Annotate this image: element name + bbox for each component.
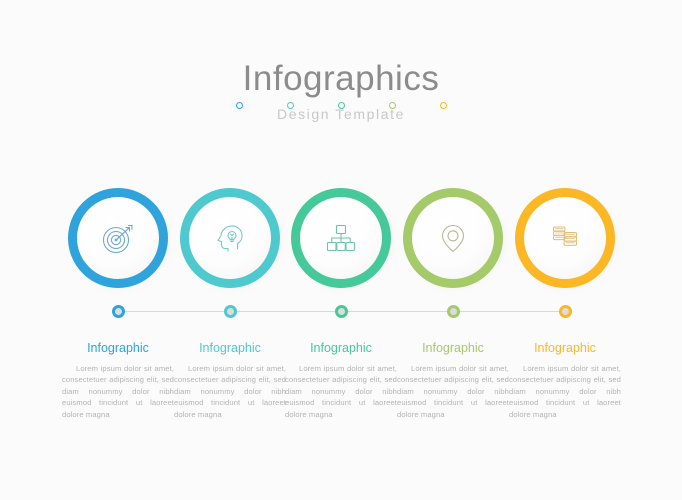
column-body-1: Lorem ipsum dolor sit amet, consectetuer… [62,363,174,420]
column-heading-5: Infographic [509,340,621,356]
text-column-2: Infographic Lorem ipsum dolor sit amet, … [174,340,286,420]
page-title: Infographics [0,58,682,100]
column-body-3: Lorem ipsum dolor sit amet, consectetuer… [285,363,397,420]
step-circle-4[interactable] [403,188,503,288]
map-pin-icon [433,218,473,258]
header-dot-4 [389,102,396,109]
step-ring-2 [180,188,280,288]
text-column-3: Infographic Lorem ipsum dolor sit amet, … [285,340,397,420]
timeline-node-3[interactable] [335,305,348,318]
header-dot-5 [440,102,447,109]
step-ring-1 [68,188,168,288]
header-dot-2 [287,102,294,109]
step-ring-4 [403,188,503,288]
infographic-canvas: Infographics Design Template [0,0,682,500]
column-heading-4: Infographic [397,340,509,356]
column-heading-2: Infographic [174,340,286,356]
hierarchy-icon [321,218,361,258]
step-ring-3 [291,188,391,288]
timeline-node-4[interactable] [447,305,460,318]
step-circle-2[interactable] [180,188,280,288]
column-body-5: Lorem ipsum dolor sit amet, consectetuer… [509,363,621,420]
column-body-4: Lorem ipsum dolor sit amet, consectetuer… [397,363,509,420]
text-column-4: Infographic Lorem ipsum dolor sit amet, … [397,340,509,420]
header-dot-row [0,102,682,109]
timeline-node-2[interactable] [224,305,237,318]
text-column-5: Infographic Lorem ipsum dolor sit amet, … [509,340,621,420]
timeline-node-5[interactable] [559,305,572,318]
column-heading-1: Infographic [62,340,174,356]
text-column-1: Infographic Lorem ipsum dolor sit amet, … [62,340,174,420]
text-column-row: Infographic Lorem ipsum dolor sit amet, … [0,340,682,460]
step-circle-1[interactable] [68,188,168,288]
timeline [0,305,682,319]
column-heading-3: Infographic [285,340,397,356]
coins-stack-icon [545,218,585,258]
step-circle-3[interactable] [291,188,391,288]
timeline-node-1[interactable] [112,305,125,318]
column-body-2: Lorem ipsum dolor sit amet, consectetuer… [174,363,286,420]
header-dot-3 [338,102,345,109]
step-circle-5[interactable] [515,188,615,288]
header: Infographics Design Template [0,58,682,123]
step-ring-5 [515,188,615,288]
header-dot-1 [236,102,243,109]
head-idea-icon [210,218,250,258]
target-icon [98,218,138,258]
step-circle-row [0,188,682,308]
